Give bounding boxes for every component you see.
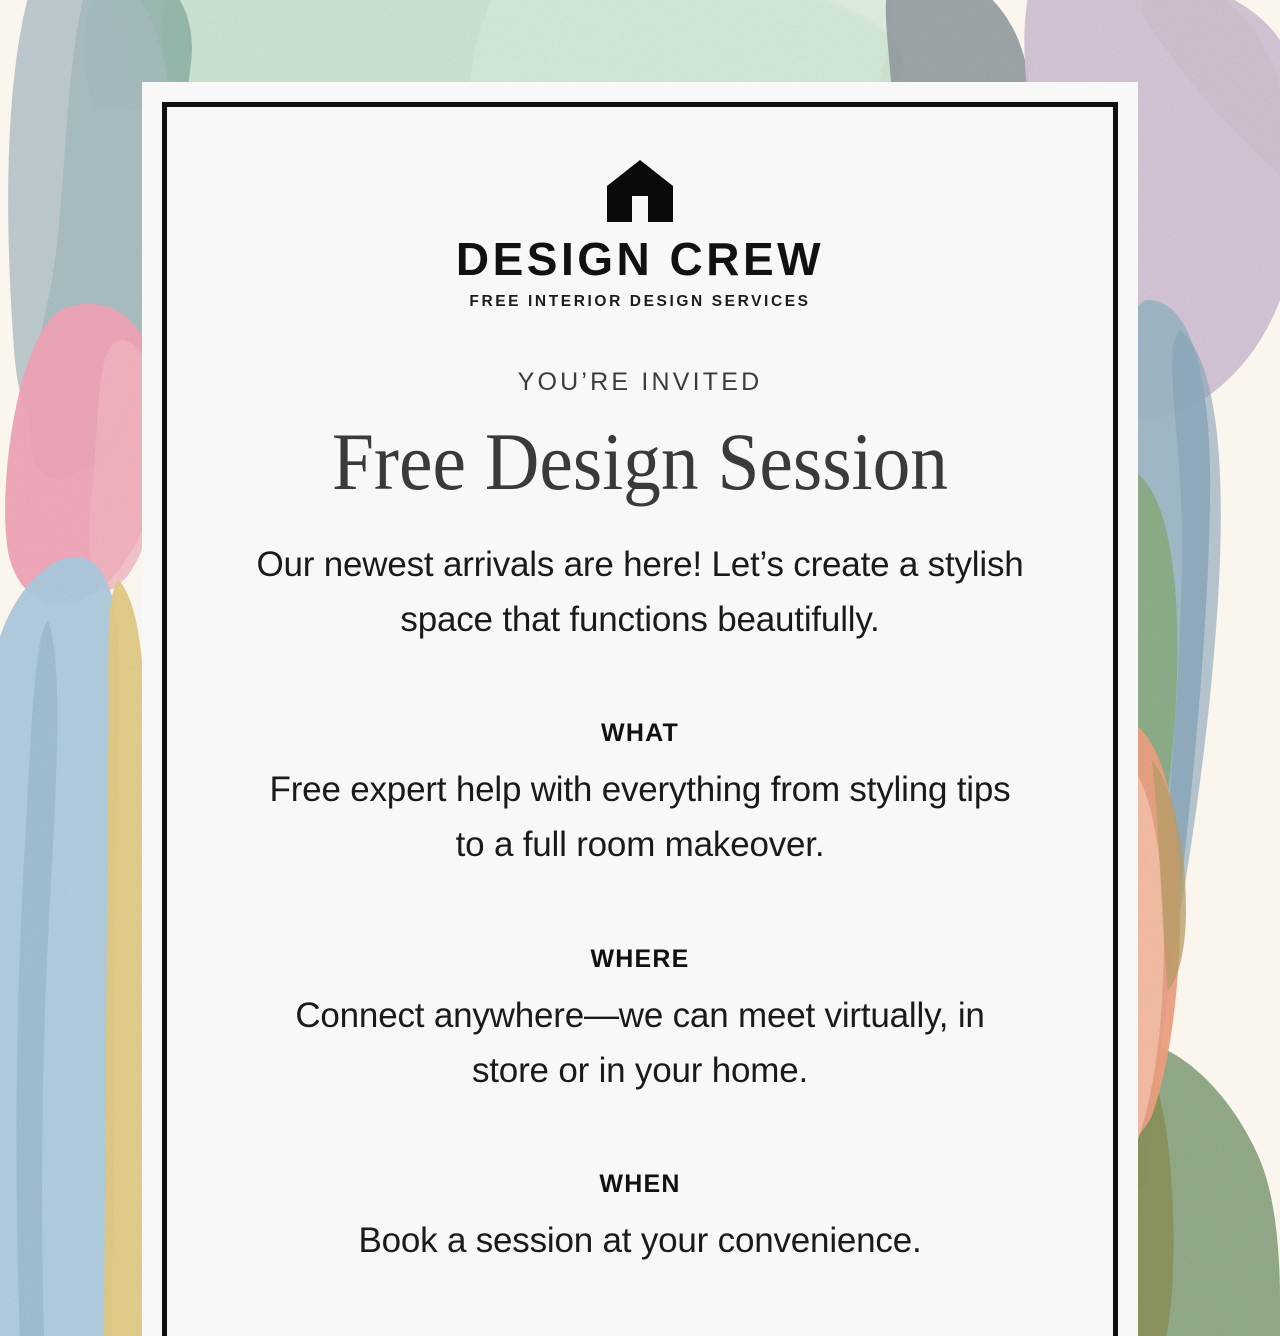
intro-text: Our newest arrivals are here! Let’s crea… (245, 537, 1035, 648)
page-title: Free Design Session (200, 421, 1080, 503)
section-what-label: WHAT (162, 721, 1118, 746)
section-when-text: Book a session at your convenience. (230, 1213, 1050, 1268)
invitation-eyebrow: YOU’RE INVITED (162, 370, 1118, 395)
section-when: WHEN Book a session at your convenience. (162, 1172, 1118, 1268)
section-what-text: Free expert help with everything from st… (260, 762, 1020, 873)
invitation-card: DESIGN CREW FREE INTERIOR DESIGN SERVICE… (142, 82, 1138, 1336)
section-where-label: WHERE (162, 947, 1118, 972)
brand-tagline: FREE INTERIOR DESIGN SERVICES (162, 294, 1118, 310)
section-when-label: WHEN (162, 1172, 1118, 1197)
card-content: DESIGN CREW FREE INTERIOR DESIGN SERVICE… (162, 102, 1118, 1269)
brand-name: DESIGN CREW (162, 236, 1118, 282)
section-where-text: Connect anywhere—we can meet virtually, … (260, 988, 1020, 1099)
section-where: WHERE Connect anywhere—we can meet virtu… (162, 947, 1118, 1099)
brand-logo: DESIGN CREW FREE INTERIOR DESIGN SERVICE… (162, 160, 1118, 310)
invitation-page: DESIGN CREW FREE INTERIOR DESIGN SERVICE… (0, 0, 1280, 1336)
section-what: WHAT Free expert help with everything fr… (162, 721, 1118, 873)
house-icon (607, 160, 673, 222)
